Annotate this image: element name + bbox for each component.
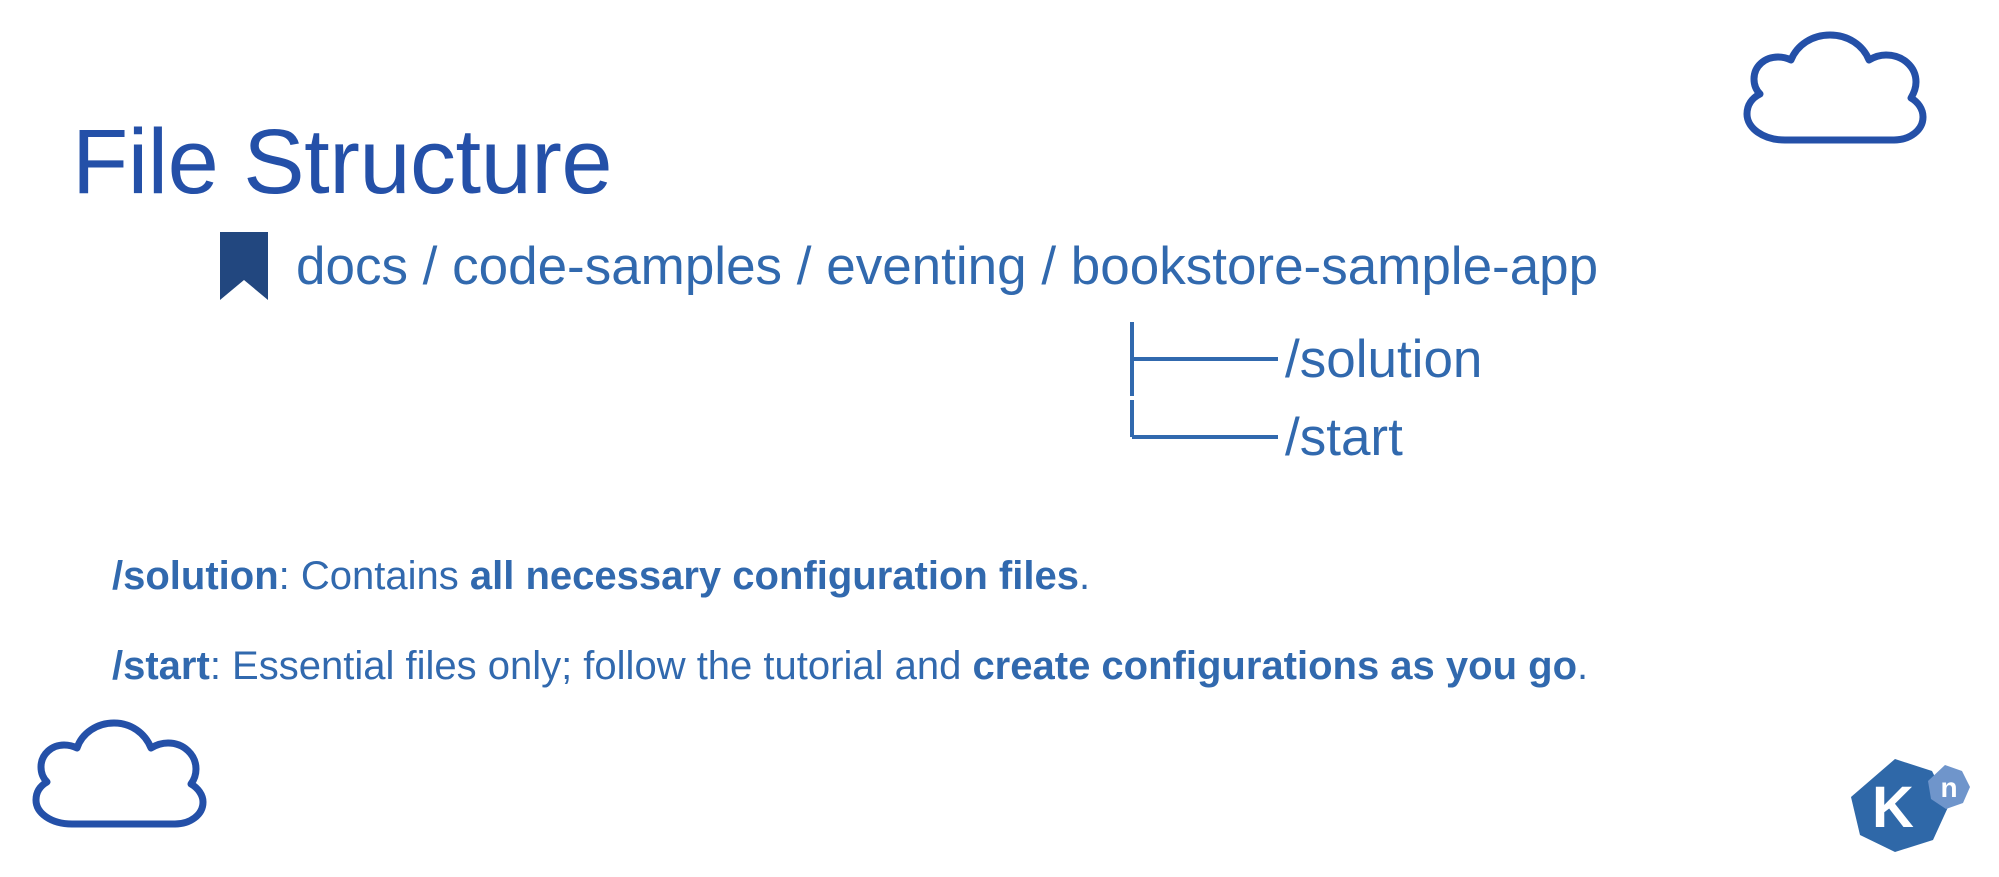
cloud-outline-icon	[12, 716, 220, 834]
tree-branch-tee-icon	[1128, 320, 1283, 398]
tree-branch-elbow-icon	[1128, 398, 1283, 476]
bookmark-icon	[218, 230, 270, 302]
tree-row: /start	[1128, 398, 1482, 476]
file-path-row: docs / code-samples / eventing / booksto…	[218, 230, 1598, 302]
body-text-block: /solution: Contains all necessary config…	[112, 512, 1912, 690]
body-line-tail: .	[1577, 644, 1588, 688]
tree-row: /solution	[1128, 320, 1482, 398]
body-line-start: /start: Essential files only; follow the…	[112, 642, 1912, 690]
body-line-middle: : Contains	[279, 554, 470, 598]
body-line-emphasis: all necessary configuration files	[470, 554, 1079, 598]
body-line-solution: /solution: Contains all necessary config…	[112, 552, 1912, 600]
body-line-lead: /solution	[112, 554, 279, 598]
tree-item-label: /start	[1285, 411, 1403, 464]
cloud-outline-icon	[1723, 28, 1941, 150]
file-path-text: docs / code-samples / eventing / booksto…	[296, 240, 1598, 293]
body-line-lead: /start	[112, 644, 210, 688]
directory-tree: /solution /start	[1128, 320, 1482, 476]
body-line-emphasis: create configurations as you go	[972, 644, 1577, 688]
knative-logo-letter: K	[1872, 775, 1914, 840]
body-line-middle: : Essential files only; follow the tutor…	[210, 644, 973, 688]
body-line-tail: .	[1079, 554, 1090, 598]
tree-item-label: /solution	[1285, 333, 1482, 386]
page-title: File Structure	[72, 114, 612, 211]
knative-logo: K n	[1837, 751, 1977, 861]
knative-badge-letter: n	[1940, 772, 1957, 803]
